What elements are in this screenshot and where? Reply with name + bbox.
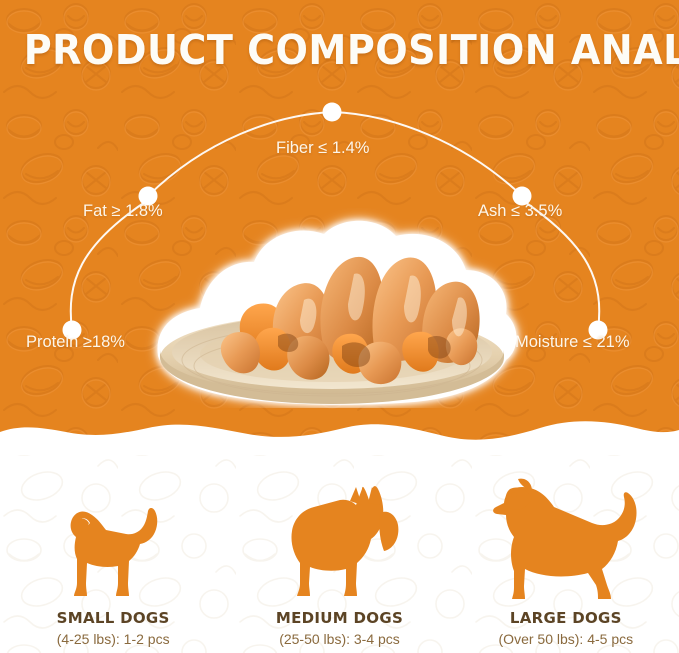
large-dog-icon [492, 473, 640, 601]
small-dog-subtitle: (4-25 lbs): 1-2 pcs [57, 631, 170, 647]
large-dog-title: LARGE DOGS [510, 609, 622, 627]
medium-dog-icon [276, 479, 402, 601]
composition-section: PRODUCT COMPOSITION ANALYSIS [0, 0, 679, 462]
medium-dog-title: MEDIUM DOGS [276, 609, 403, 627]
large-dog-subtitle: (Over 50 lbs): 4-5 pcs [499, 631, 634, 647]
dog-size-small: SMALL DOGS (4-25 lbs): 1-2 pcs [0, 455, 226, 653]
dog-size-large: LARGE DOGS (Over 50 lbs): 4-5 pcs [453, 455, 679, 653]
nutrient-label-fiber: Fiber ≤ 1.4% [276, 139, 369, 158]
nutrient-label-protein: Protein ≥18% [26, 333, 125, 352]
feeding-guide-section: SMALL DOGS (4-25 lbs): 1-2 pcs MEDIUM DO… [0, 455, 679, 653]
dog-size-row: SMALL DOGS (4-25 lbs): 1-2 pcs MEDIUM DO… [0, 455, 679, 653]
small-dog-icon [54, 497, 172, 601]
dog-size-medium: MEDIUM DOGS (25-50 lbs): 3-4 pcs [226, 455, 452, 653]
product-infographic: PRODUCT COMPOSITION ANALYSIS [0, 0, 679, 653]
product-photo [128, 208, 528, 408]
nutrient-label-moisture: Moisture ≤ 21% [515, 333, 630, 352]
medium-dog-subtitle: (25-50 lbs): 3-4 pcs [279, 631, 400, 647]
small-dog-title: SMALL DOGS [57, 609, 170, 627]
